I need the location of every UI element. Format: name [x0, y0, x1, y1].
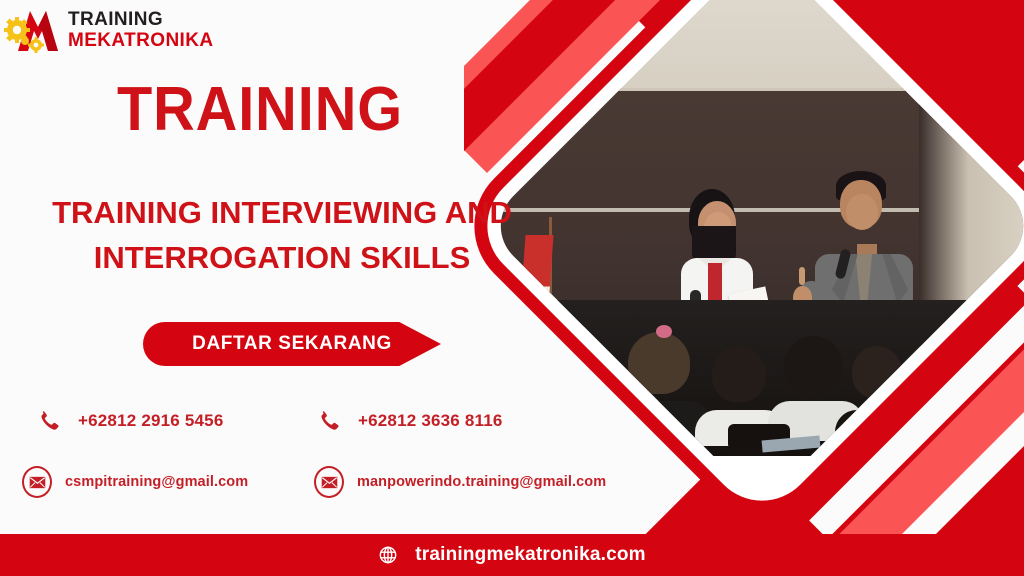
- course-subtitle: TRAINING INTERVIEWING AND INTERROGATION …: [12, 190, 552, 281]
- phone-icon: [316, 409, 340, 433]
- website-url[interactable]: trainingmekatronika.com: [415, 544, 646, 566]
- globe-icon: [378, 545, 398, 565]
- promo-poster: TRAINING MEKATRONIKA TRAINING TRAINING I…: [0, 0, 1024, 576]
- logo-text-line1: TRAINING: [68, 10, 213, 29]
- logo-text-line2: MEKATRONIKA: [68, 31, 213, 50]
- email-contact-2[interactable]: manpowerindo.training@gmail.com: [314, 466, 704, 498]
- phone-contact-2[interactable]: +62812 3636 8116: [312, 409, 572, 433]
- page-title: TRAINING: [18, 74, 502, 145]
- envelope-icon: [314, 466, 344, 498]
- phone-number-2: +62812 3636 8116: [358, 411, 503, 431]
- email-address-1: csmpitraining@gmail.com: [65, 474, 248, 490]
- phone-contact-1[interactable]: +62812 2916 5456: [22, 409, 312, 433]
- poster-content: TRAINING TRAINING INTERVIEWING AND INTER…: [0, 0, 600, 528]
- email-contacts: csmpitraining@gmail.com manpowerindo.tra…: [22, 460, 712, 504]
- email-address-2: manpowerindo.training@gmail.com: [357, 474, 606, 490]
- register-button[interactable]: DAFTAR SEKARANG: [143, 322, 441, 366]
- phone-icon: [36, 409, 60, 433]
- brand-logo[interactable]: TRAINING MEKATRONIKA: [4, 2, 214, 58]
- email-contact-1[interactable]: csmpitraining@gmail.com: [22, 466, 314, 498]
- footer-bar: trainingmekatronika.com: [0, 534, 1024, 576]
- phone-number-1: +62812 2916 5456: [78, 411, 223, 431]
- envelope-icon: [22, 466, 52, 498]
- phone-contacts: +62812 2916 5456 +62812 3636 8116: [22, 398, 582, 444]
- m-gear-logo-icon: [4, 5, 66, 55]
